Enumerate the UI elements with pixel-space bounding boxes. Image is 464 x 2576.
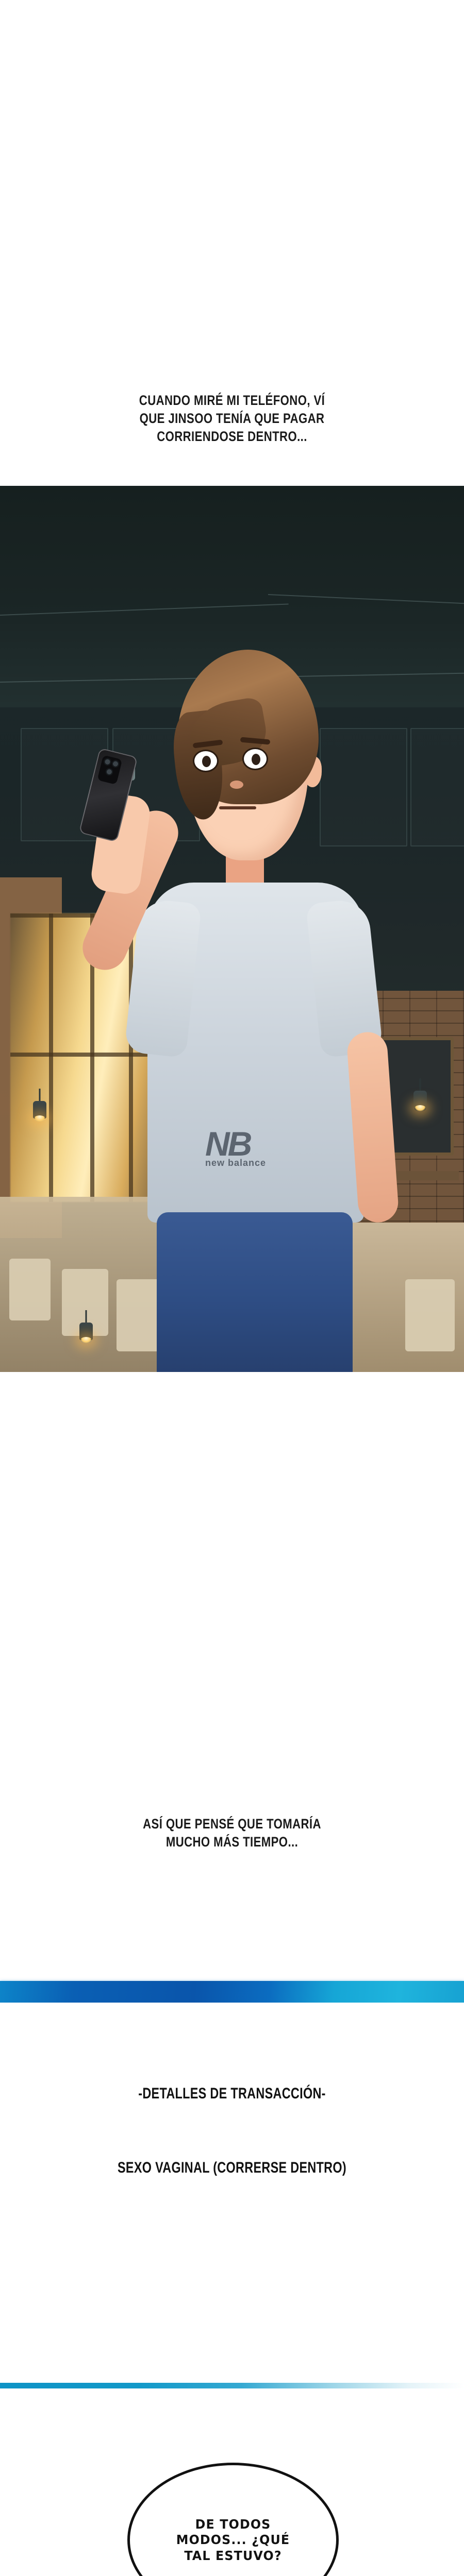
window-mullion-3 xyxy=(129,913,133,1202)
camera-lens-2 xyxy=(111,759,120,768)
gap-before-blue-band xyxy=(0,1851,464,1981)
narration-1-line-3: CORRIENDOSE DENTRO... xyxy=(42,428,422,446)
narration-2-line-2: MUCHO MÁS TIEMPO... xyxy=(42,1833,422,1851)
camera-lens-1 xyxy=(103,758,112,767)
pendant-lamp-left xyxy=(32,1089,47,1125)
lamp-bulb xyxy=(80,1337,92,1343)
transaction-detail: SEXO VAGINAL (CORRERSE DENTRO) xyxy=(51,2159,413,2177)
brand-word: new balance xyxy=(205,1158,308,1168)
narration-2-line-1: ASÍ QUE PENSÉ QUE TOMARÍA xyxy=(42,1815,422,1833)
bubble-line-2: MODOS... ¿QUÉ xyxy=(176,2532,290,2548)
chair-4 xyxy=(405,1279,455,1351)
gap-before-thin-band xyxy=(0,2177,464,2383)
speech-bubble-area: DE TODOS MODOS... ¿QUÉ TAL ESTUVO? xyxy=(0,2455,464,2576)
wall-panel-4 xyxy=(410,728,464,846)
transaction-heading: -DETALLES DE TRANSACCIÓN- xyxy=(51,2085,413,2103)
bubble-line-1: DE TODOS xyxy=(176,2517,290,2533)
webtoon-page: CUANDO MIRÉ MI TELÉFONO, VÍ QUE JINSOO T… xyxy=(0,0,464,2576)
camera-lens-3 xyxy=(105,768,113,776)
pendant-lamp-inner xyxy=(78,1310,94,1346)
lamp-rod xyxy=(86,1310,87,1324)
lamp-rod xyxy=(420,1078,421,1092)
gap-between-transaction-lines xyxy=(0,2103,464,2159)
top-whitespace xyxy=(0,0,464,392)
window-mullion-1 xyxy=(49,913,53,1202)
pendant-lamp-right xyxy=(412,1078,428,1114)
shirt-brand-logo: NB new balance xyxy=(205,1130,308,1177)
panel-cafe-phone: NB new balance xyxy=(0,486,464,1372)
narration-1-line-2: QUE JINSOO TENÍA QUE PAGAR xyxy=(42,410,422,428)
gap-before-transaction-heading xyxy=(0,2003,464,2085)
gap-after-panel-1 xyxy=(0,1372,464,1815)
phone-camera-module xyxy=(97,755,122,785)
narration-1-line-1: CUANDO MIRÉ MI TELÉFONO, VÍ xyxy=(42,392,422,410)
gap-before-bubble xyxy=(0,2388,464,2455)
character-jinsoo-standing: NB new balance xyxy=(139,640,366,1372)
brand-mark: NB xyxy=(205,1130,308,1158)
transaction-band-bottom xyxy=(0,2383,464,2388)
bubble-line-3: TAL ESTUVO? xyxy=(176,2548,290,2564)
narration-block-2: ASÍ QUE PENSÉ QUE TOMARÍA MUCHO MÁS TIEM… xyxy=(42,1815,422,1851)
lamp-rod xyxy=(39,1089,41,1102)
gap-after-narration-1 xyxy=(0,446,464,486)
window-bar-mid xyxy=(10,1053,160,1057)
jeans xyxy=(157,1212,353,1372)
transaction-band-top xyxy=(0,1981,464,2003)
chair-1 xyxy=(9,1259,51,1320)
lamp-bulb xyxy=(34,1115,45,1122)
narration-block-1: CUANDO MIRÉ MI TELÉFONO, VÍ QUE JINSOO T… xyxy=(42,392,422,446)
lamp-bulb xyxy=(415,1105,426,1111)
mouth xyxy=(219,806,256,809)
speech-bubble-text: DE TODOS MODOS... ¿QUÉ TAL ESTUVO? xyxy=(176,2517,290,2564)
speech-bubble: DE TODOS MODOS... ¿QUÉ TAL ESTUVO? xyxy=(127,2463,339,2576)
